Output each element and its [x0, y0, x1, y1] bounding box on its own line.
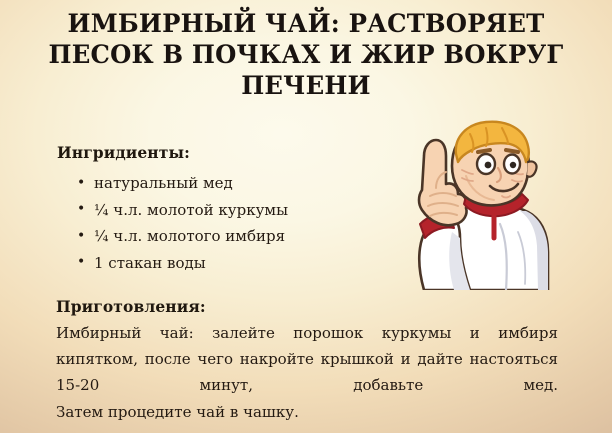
- cartoon-man-pointing-up-illustration: [378, 112, 574, 290]
- preparation-paragraph: Имбирный чай: залейте порошок куркумы и …: [56, 320, 558, 399]
- list-item: натуральный мед: [76, 170, 376, 197]
- preparation-body: Имбирный чай: залейте порошок куркумы и …: [56, 320, 558, 425]
- title-line-3: ПЕЧЕНИ: [31, 71, 581, 102]
- list-item: ¼ ч.л. молотого имбиря: [76, 223, 376, 250]
- title-line-2: ПЕСОК В ПОЧКАХ И ЖИР ВОКРУГ: [31, 40, 581, 71]
- preparation-heading: Приготовления:: [56, 297, 206, 316]
- eyebrow-right: [506, 150, 518, 152]
- preparation-final-line: Затем процедите чай в чашку.: [56, 399, 558, 425]
- ingredients-heading: Ингридиенты:: [57, 143, 190, 162]
- list-item: ¼ ч.л. молотой куркумы: [76, 197, 376, 224]
- poster-canvas: ИМБИРНЫЙ ЧАЙ: РАСТВОРЯЕТ ПЕСОК В ПОЧКАХ …: [0, 0, 612, 433]
- ingredients-list: натуральный мед ¼ ч.л. молотой куркумы ¼…: [76, 170, 376, 276]
- poster-title: ИМБИРНЫЙ ЧАЙ: РАСТВОРЯЕТ ПЕСОК В ПОЧКАХ …: [0, 9, 612, 102]
- list-item: 1 стакан воды: [76, 250, 376, 277]
- title-line-1: ИМБИРНЫЙ ЧАЙ: РАСТВОРЯЕТ: [31, 9, 581, 40]
- cartoon-man-graphic: [378, 112, 574, 290]
- eyebrow-left: [478, 150, 490, 152]
- ear-right: [527, 161, 537, 176]
- pupil-right: [510, 162, 516, 168]
- pupil-left: [485, 162, 492, 169]
